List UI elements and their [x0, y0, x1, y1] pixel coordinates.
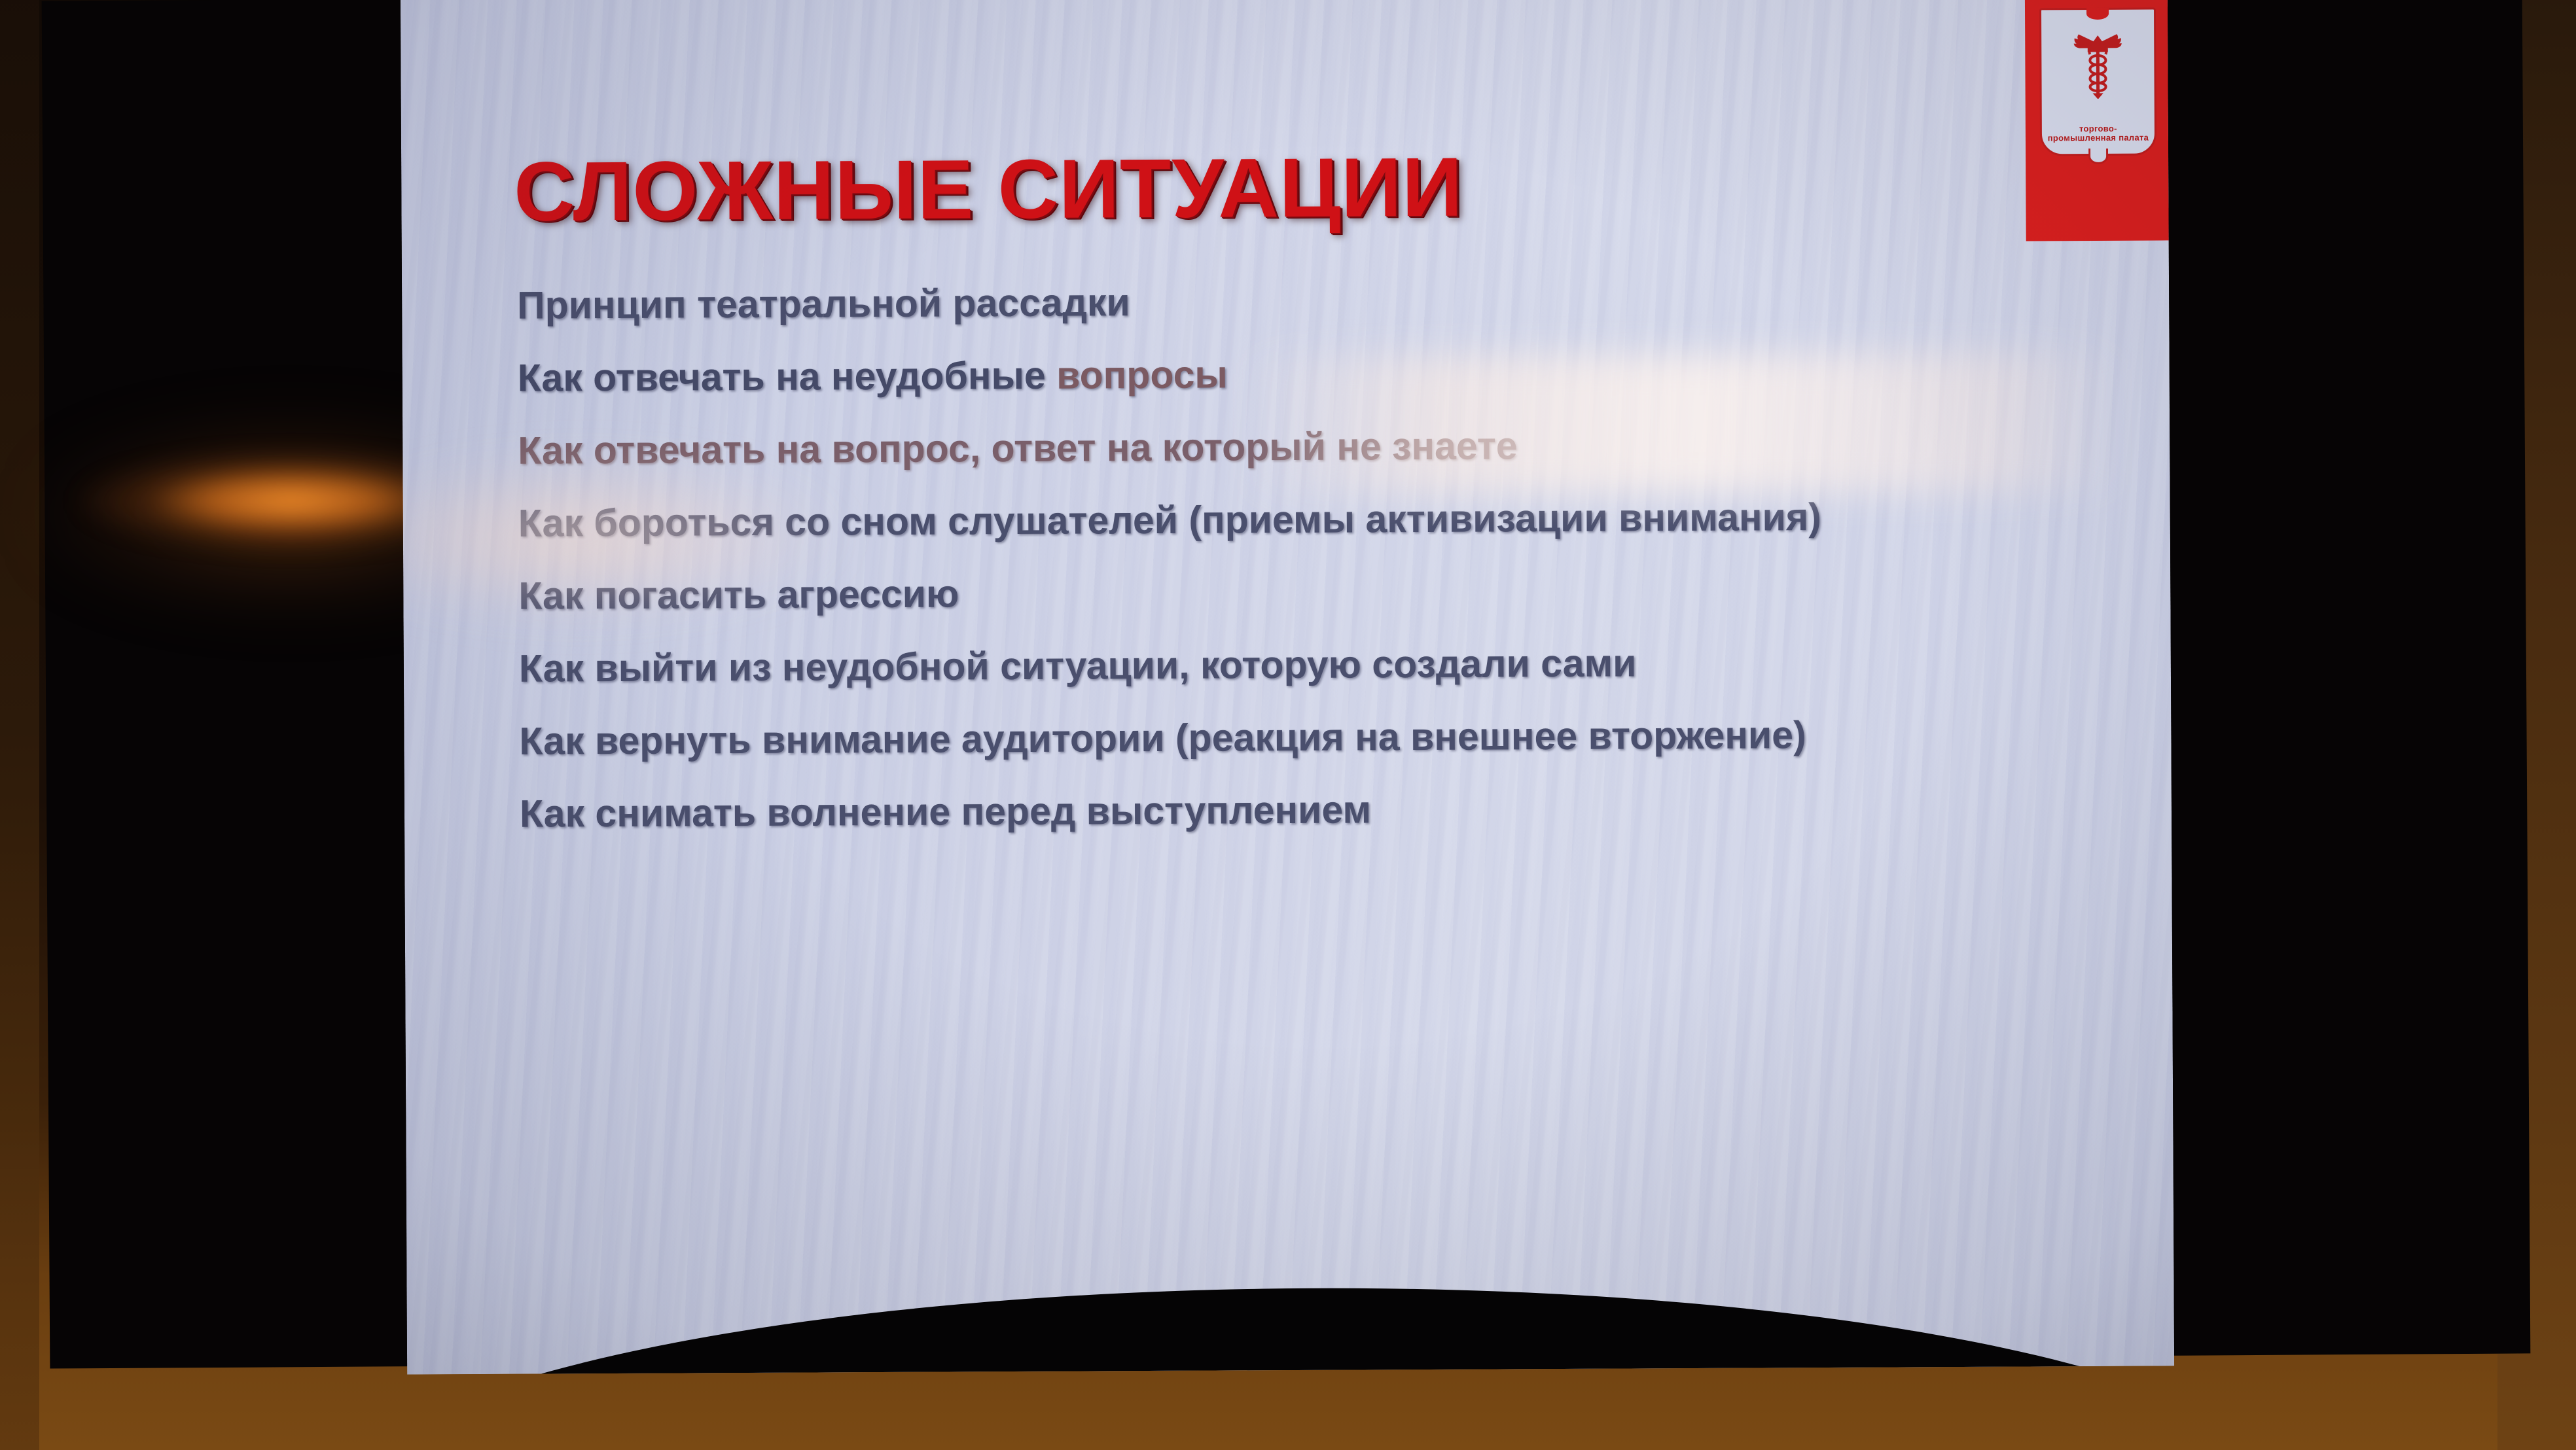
lamp-light-streak — [79, 451, 445, 550]
bullet-text: Как вернуть внимание аудитории (реакция … — [519, 713, 1806, 763]
bullet-text: Как выйти из неудобной ситуации, которую… — [519, 641, 1637, 690]
bullet-item-8: Как снимать волнение перед выступлением — [520, 785, 1842, 838]
logo-organization-bottom-label: торгово- промышленная палата — [2047, 124, 2149, 143]
caduceus-emblem-icon — [2068, 22, 2128, 99]
projection-photo: СЛОЖНЫЕ СИТУАЦИИ Принцип театральной рас… — [0, 0, 2576, 1450]
projector-glare-right — [1240, 353, 2124, 495]
logo-shield: торгово- промышленная палата — [2039, 8, 2156, 156]
chamber-of-commerce-logo: МОСКОВСКАЯ — [2025, 0, 2174, 245]
bullet-item-1: Принцип театральной рассадки — [517, 276, 1839, 330]
bullet-text: Как снимать волнение перед выступлением — [520, 788, 1371, 835]
bullet-item-7: Как вернуть внимание аудитории (реакция … — [519, 712, 1841, 766]
bullet-text: Как отвечать на неудобные — [518, 354, 1057, 400]
projected-slide: СЛОЖНЫЕ СИТУАЦИИ Принцип театральной рас… — [401, 0, 2174, 1375]
bullet-text: Принцип театральной рассадки — [517, 281, 1130, 327]
logo-shield-notch-icon — [2086, 8, 2109, 20]
slide-title: СЛОЖНЫЕ СИТУАЦИИ — [514, 146, 1463, 234]
projector-glare-left — [401, 451, 862, 624]
slide-content: СЛОЖНЫЕ СИТУАЦИИ Принцип театральной рас… — [401, 0, 2174, 1375]
bullet-text-highlight: вопросы — [1056, 353, 1228, 397]
bullet-item-6: Как выйти из неудобной ситуации, которую… — [519, 639, 1841, 693]
slide-surface: СЛОЖНЫЕ СИТУАЦИИ Принцип театральной рас… — [401, 0, 2174, 1375]
room-wall-left — [0, 0, 39, 1450]
